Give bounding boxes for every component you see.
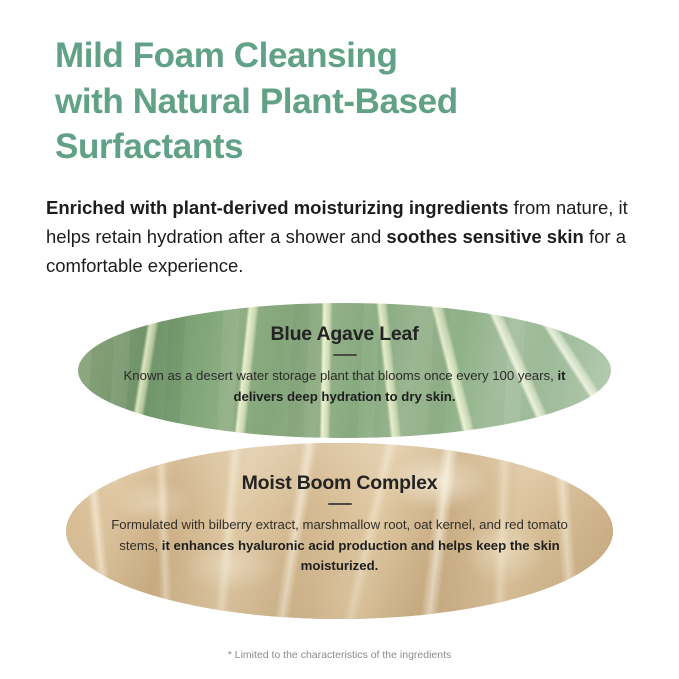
ingredient-description-moist-boom-complex: Formulated with bilberry extract, marshm… [100,515,579,575]
page-title-line-2: with Natural Plant-Based [55,79,655,125]
subtitle-emphasis-2: soothes sensitive skin [386,226,583,247]
page-title-line-1: Mild Foam Cleansing [55,33,655,79]
ingredient-description-text: Known as a desert water storage plant th… [123,368,557,383]
footnote: * Limited to the characteristics of the … [0,649,679,661]
subtitle-emphasis-1: Enriched with plant-derived moisturizing… [46,197,509,218]
title-divider [333,354,357,356]
title-divider [328,503,352,505]
ingredient-title-blue-agave-leaf: Blue Agave Leaf [112,324,577,345]
ingredient-description-blue-agave-leaf: Known as a desert water storage plant th… [112,366,577,406]
ingredient-card-content: Blue Agave Leaf Known as a desert water … [78,303,611,407]
product-detail-page: Mild Foam Cleansing with Natural Plant-B… [0,0,679,679]
ingredient-title-moist-boom-complex: Moist Boom Complex [100,473,579,494]
ingredient-description-emphasis: it enhances hyaluronic acid production a… [162,538,560,573]
page-subtitle: Enriched with plant-derived moisturizing… [46,193,638,281]
page-title-line-3: Surfactants [55,124,655,170]
page-title: Mild Foam Cleansing with Natural Plant-B… [55,33,655,170]
ingredient-card-moist-boom-complex: Moist Boom Complex Formulated with bilbe… [66,443,613,619]
ingredient-card-blue-agave-leaf: Blue Agave Leaf Known as a desert water … [78,303,611,438]
ingredient-card-content: Moist Boom Complex Formulated with bilbe… [66,443,613,576]
